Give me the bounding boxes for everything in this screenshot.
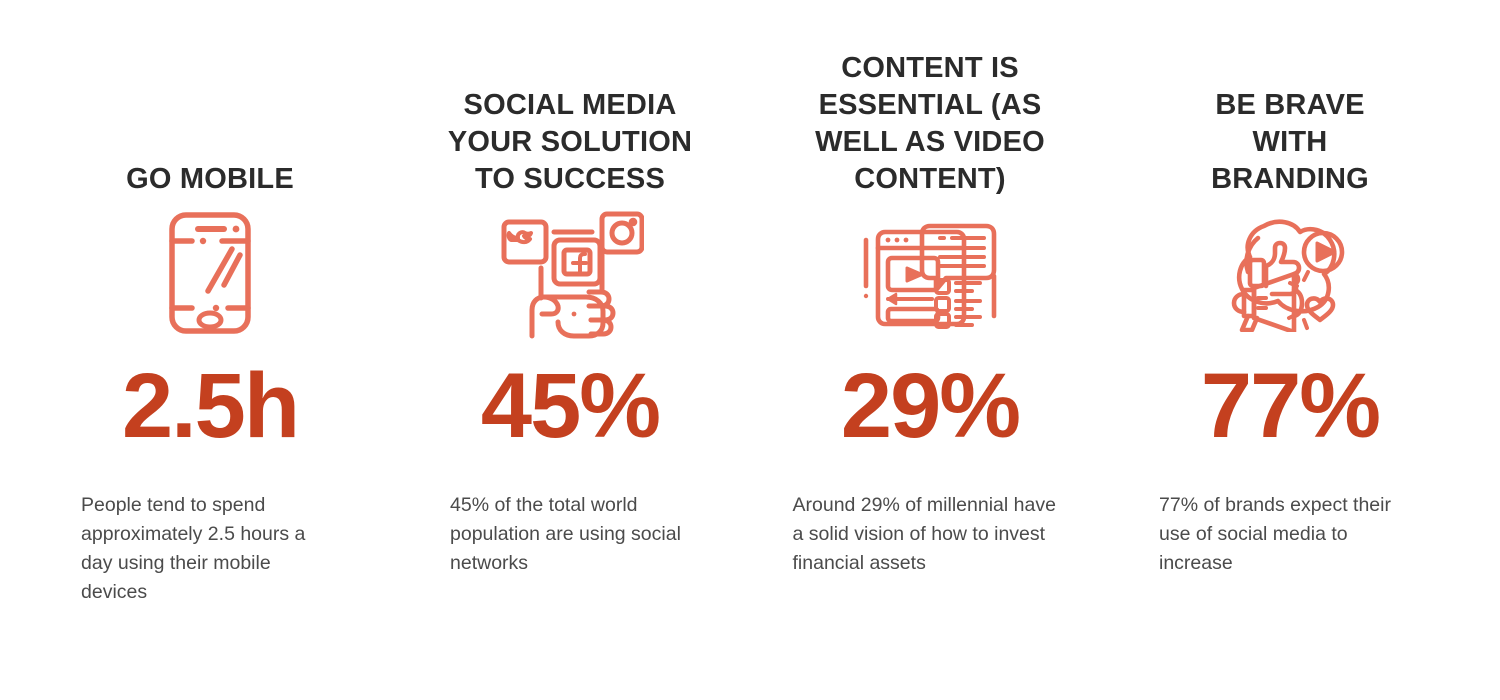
stat-value: 77% <box>1201 360 1379 452</box>
column-description: People tend to spend approximately 2.5 h… <box>81 491 339 606</box>
stat-value: 29% <box>841 360 1019 452</box>
heading-container: GO MOBILE <box>126 48 294 198</box>
stat-column-social-media: SOCIAL MEDIA YOUR SOLUTION TO SUCCESS <box>390 0 750 700</box>
heading-container: CONTENT IS ESSENTIAL (AS WELL AS VIDEO C… <box>810 48 1050 198</box>
icon-container <box>1224 198 1356 348</box>
column-heading: SOCIAL MEDIA YOUR SOLUTION TO SUCCESS <box>443 87 698 198</box>
stat-container: 2.5h <box>122 348 298 463</box>
body-container: People tend to spend approximately 2.5 h… <box>30 463 390 606</box>
stat-column-go-mobile: GO MOBILE <box>30 0 390 700</box>
column-heading: BE BRAVE WITH BRANDING <box>1188 87 1393 198</box>
stat-value: 2.5h <box>122 360 298 452</box>
icon-container <box>496 198 644 348</box>
branding-megaphone-icon <box>1224 214 1356 332</box>
hand-holding-social-signs-icon <box>496 206 644 340</box>
content-video-article-icon <box>860 214 1000 332</box>
stat-column-content: CONTENT IS ESSENTIAL (AS WELL AS VIDEO C… <box>750 0 1110 700</box>
column-description: 77% of brands expect their use of social… <box>1159 491 1421 578</box>
stat-container: 77% <box>1201 348 1379 463</box>
stat-value: 45% <box>481 360 659 452</box>
mobile-phone-icon <box>158 209 262 337</box>
body-container: 45% of the total world population are us… <box>390 463 750 578</box>
stat-container: 45% <box>481 348 659 463</box>
body-container: Around 29% of millennial have a solid vi… <box>750 463 1110 578</box>
heading-container: SOCIAL MEDIA YOUR SOLUTION TO SUCCESS <box>443 48 698 198</box>
icon-container <box>860 198 1000 348</box>
column-description: 45% of the total world population are us… <box>450 491 690 578</box>
icon-container <box>158 198 262 348</box>
stat-container: 29% <box>841 348 1019 463</box>
column-heading: GO MOBILE <box>126 161 294 198</box>
infographic-board: GO MOBILE <box>0 0 1500 700</box>
column-description: Around 29% of millennial have a solid vi… <box>793 491 1068 578</box>
stat-column-branding: BE BRAVE WITH BRANDING <box>1110 0 1470 700</box>
heading-container: BE BRAVE WITH BRANDING <box>1188 48 1393 198</box>
column-heading: CONTENT IS ESSENTIAL (AS WELL AS VIDEO C… <box>810 50 1050 198</box>
body-container: 77% of brands expect their use of social… <box>1110 463 1470 578</box>
